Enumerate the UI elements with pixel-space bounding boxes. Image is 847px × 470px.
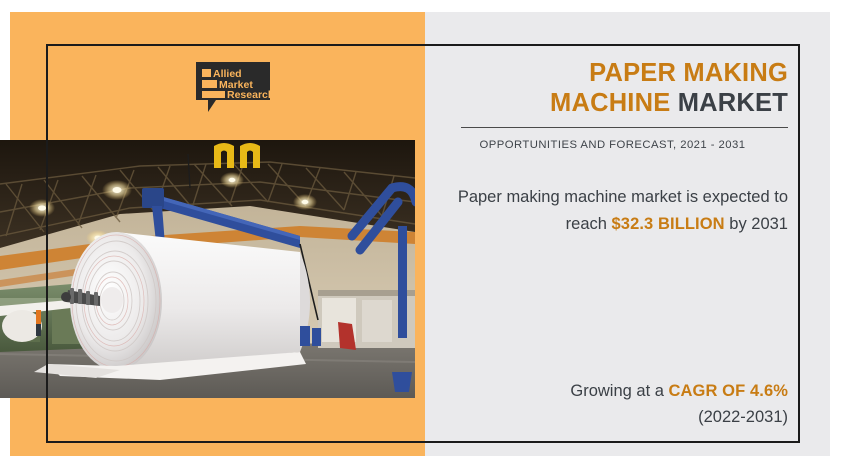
infographic-card: Allied Market Research (0, 0, 847, 470)
title-line-2-plain: MARKET (678, 89, 788, 117)
title-line-2-highlight: MACHINE (550, 89, 670, 117)
cagr-value: CAGR OF 4.6% (669, 382, 788, 400)
allied-market-research-logo: Allied Market Research (196, 62, 270, 112)
stat-value: $32.3 BILLION (612, 215, 725, 233)
title-line-1: PAPER MAKING (589, 59, 788, 87)
page-title: PAPER MAKING MACHINE MARKET (437, 52, 788, 118)
title-divider (461, 127, 788, 128)
subtitle: OPPORTUNITIES AND FORECAST, 2021 - 2031 (437, 139, 788, 151)
market-value-statement: Paper making machine market is expected … (437, 184, 788, 237)
stat-tail-text: by 2031 (725, 215, 788, 233)
cagr-years: (2022-2031) (437, 404, 788, 431)
paper-mill-photo (0, 140, 415, 398)
cagr-lead-text: Growing at a (570, 382, 668, 400)
text-content-column: PAPER MAKING MACHINE MARKET OPPORTUNITIE… (437, 52, 788, 437)
logo-line-3: Research (227, 89, 270, 101)
cagr-statement: Growing at a CAGR OF 4.6% (2022-2031) (437, 378, 788, 437)
